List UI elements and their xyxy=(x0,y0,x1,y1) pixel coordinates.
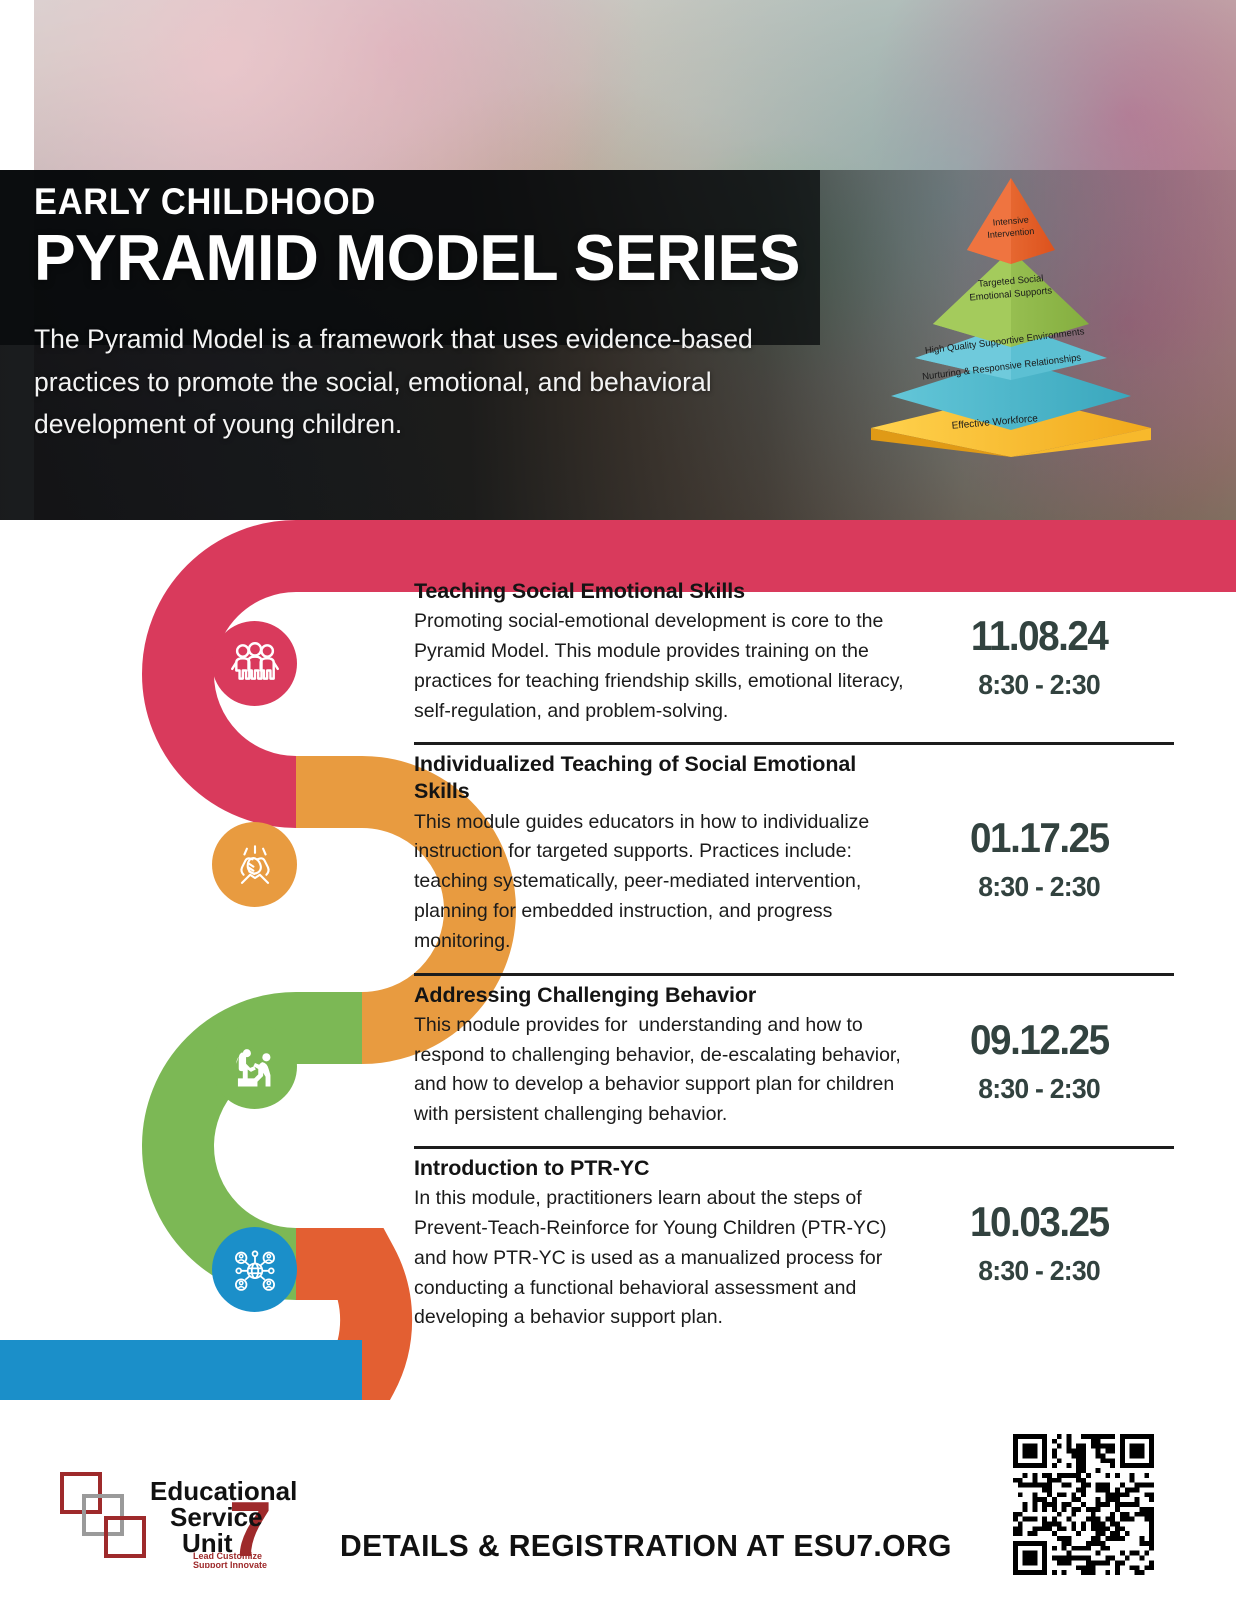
module-text: Introduction to PTR-YC In this module, p… xyxy=(414,1155,914,1333)
network-globe-people-icon xyxy=(229,1244,281,1296)
module-schedule: 01.17.25 8:30 - 2:30 xyxy=(914,751,1164,968)
module-row: Individualized Teaching of Social Emotio… xyxy=(414,742,1174,968)
logo-square-gray xyxy=(84,1496,122,1534)
module-description: Promoting social-emotional development i… xyxy=(414,607,904,726)
helping-hand-up-icon xyxy=(229,1041,281,1093)
module-title: Introduction to PTR-YC xyxy=(414,1155,904,1182)
hero-banner: EARLY CHILDHOOD PYRAMID MODEL SERIES The… xyxy=(0,0,1236,520)
module-title: Teaching Social Emotional Skills xyxy=(414,578,904,605)
module-list: Teaching Social Emotional Skills Promoti… xyxy=(414,578,1174,1333)
hero-eyebrow: EARLY CHILDHOOD xyxy=(34,182,834,221)
clasped-hands-icon xyxy=(229,839,281,891)
esu7-logo: 7 Educational Service Unit Lead Customiz… xyxy=(58,1468,298,1568)
module-date: 10.03.25 xyxy=(970,1201,1109,1243)
pyramid-model-graphic: Intensive Intervention Targeted Social E… xyxy=(845,172,1175,457)
module-date: 09.12.25 xyxy=(970,1019,1109,1061)
module-icon-badge-1 xyxy=(212,621,297,706)
module-description: In this module, practitioners learn abou… xyxy=(414,1184,904,1333)
module-row: Teaching Social Emotional Skills Promoti… xyxy=(414,578,1174,738)
module-text: Teaching Social Emotional Skills Promoti… xyxy=(414,578,914,738)
qr-code-svg xyxy=(1013,1434,1154,1575)
module-schedule: 11.08.24 8:30 - 2:30 xyxy=(914,578,1164,738)
registration-cta[interactable]: DETAILS & REGISTRATION AT ESU7.ORG xyxy=(340,1528,952,1564)
module-icon-badge-2 xyxy=(212,822,297,907)
hero-text-block: EARLY CHILDHOOD PYRAMID MODEL SERIES The… xyxy=(34,182,894,445)
logo-square-red-2 xyxy=(106,1518,144,1556)
module-row: Introduction to PTR-YC In this module, p… xyxy=(414,1146,1174,1333)
module-schedule: 09.12.25 8:30 - 2:30 xyxy=(914,982,1164,1142)
page-title: PYRAMID MODEL SERIES xyxy=(34,225,860,290)
module-date: 01.17.25 xyxy=(970,817,1109,859)
module-row: Addressing Challenging Behavior This mod… xyxy=(414,973,1174,1142)
module-time: 8:30 - 2:30 xyxy=(978,1255,1100,1287)
module-text: Addressing Challenging Behavior This mod… xyxy=(414,982,914,1142)
module-description: This module provides for understanding a… xyxy=(414,1011,904,1130)
module-title: Addressing Challenging Behavior xyxy=(414,982,904,1009)
pyramid-svg: Intensive Intervention Targeted Social E… xyxy=(845,172,1175,457)
module-time: 8:30 - 2:30 xyxy=(978,669,1100,701)
logo-square-red-1 xyxy=(62,1474,100,1512)
qr-code[interactable] xyxy=(1013,1434,1154,1575)
module-time: 8:30 - 2:30 xyxy=(978,871,1100,903)
module-icon-badge-3 xyxy=(212,1024,297,1109)
logo-tagline-2: Support Innovate xyxy=(193,1560,267,1568)
module-text: Individualized Teaching of Social Emotio… xyxy=(414,751,914,968)
esu7-logo-svg: 7 Educational Service Unit Lead Customiz… xyxy=(58,1468,298,1568)
module-time: 8:30 - 2:30 xyxy=(978,1073,1100,1105)
module-description: This module guides educators in how to i… xyxy=(414,808,904,957)
module-title: Individualized Teaching of Social Emotio… xyxy=(414,751,904,805)
three-people-icon xyxy=(229,638,281,690)
hero-subtitle: The Pyramid Model is a framework that us… xyxy=(34,318,834,445)
module-icon-badge-4 xyxy=(212,1227,297,1312)
module-date: 11.08.24 xyxy=(971,615,1108,657)
module-schedule: 10.03.25 8:30 - 2:30 xyxy=(914,1155,1164,1333)
